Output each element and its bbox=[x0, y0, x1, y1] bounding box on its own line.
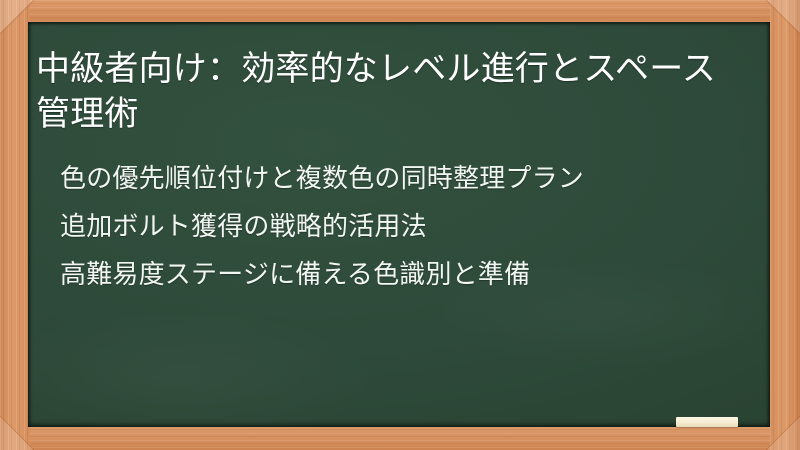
frame-rail-top bbox=[0, 0, 800, 24]
frame-stile-right bbox=[770, 0, 800, 450]
chalkboard-slide: 中級者向け：効率的なレベル進行とスペース管理術 色の優先順位付けと複数色の同時整… bbox=[0, 0, 800, 450]
frame-stile-left bbox=[0, 0, 30, 450]
slide-title: 中級者向け：効率的なレベル進行とスペース管理術 bbox=[36, 47, 726, 137]
bullet-list: 色の優先順位付けと複数色の同時整理プラン 追加ボルト獲得の戦略的活用法 高難易度… bbox=[60, 154, 720, 298]
bullet-item-1: 色の優先順位付けと複数色の同時整理プラン bbox=[60, 154, 720, 202]
chalk-stick-icon bbox=[676, 417, 738, 427]
bullet-item-3: 高難易度ステージに備える色識別と準備 bbox=[60, 250, 720, 298]
frame-rail-bottom bbox=[0, 426, 800, 450]
bullet-item-2: 追加ボルト獲得の戦略的活用法 bbox=[60, 202, 720, 250]
